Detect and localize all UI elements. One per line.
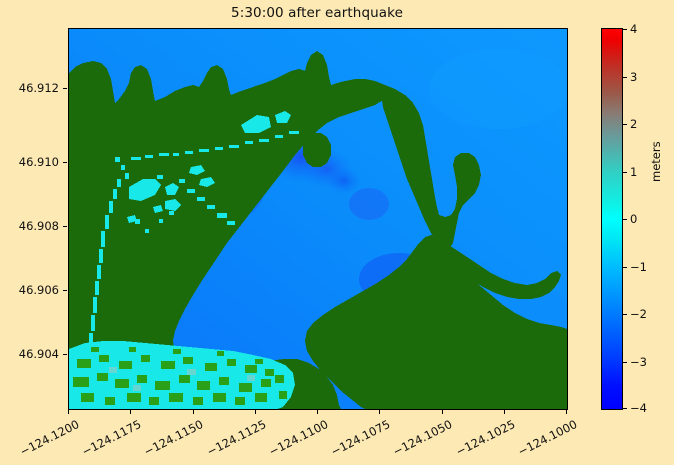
x-tick-4 [317, 410, 318, 414]
x-tick-7 [504, 410, 505, 414]
cbar-tick-m4 [622, 408, 627, 409]
map-axes[interactable] [68, 28, 568, 410]
y-tick-label-4: 46.912 [3, 81, 59, 95]
cbar-label-m2: −2 [630, 307, 647, 321]
page-title: 5:30:00 after earthquake [68, 5, 566, 21]
x-tick-5 [379, 410, 380, 414]
x-tick-3 [255, 410, 256, 414]
colorbar-axis-label: meters [649, 141, 663, 182]
y-tick-label-3: 46.910 [3, 155, 59, 169]
cbar-label-3: 3 [630, 70, 637, 84]
colorbar[interactable] [601, 28, 623, 410]
cbar-tick-1 [622, 172, 627, 173]
inundation-south-layer [69, 29, 567, 409]
y-tick-label-0: 46.904 [3, 347, 59, 361]
cbar-label-0: 0 [630, 212, 637, 226]
x-tick-8 [566, 410, 567, 414]
cbar-tick-m3 [622, 362, 627, 363]
map-canvas [69, 29, 567, 409]
cbar-tick-3 [622, 77, 627, 78]
cbar-tick-4 [622, 29, 627, 30]
cbar-label-m3: −3 [630, 355, 647, 369]
y-tick-label-1: 46.906 [3, 283, 59, 297]
cbar-label-2: 2 [630, 117, 637, 131]
cbar-tick-2 [622, 124, 627, 125]
y-tick-0 [63, 354, 67, 355]
cbar-tick-m1 [622, 267, 627, 268]
cbar-label-m1: −1 [630, 260, 647, 274]
x-tick-1 [130, 410, 131, 414]
cbar-label-4: 4 [630, 22, 637, 36]
y-tick-label-2: 46.908 [3, 219, 59, 233]
cbar-label-m4: −4 [630, 401, 647, 415]
matplotlib-figure: 5:30:00 after earthquake [0, 0, 674, 463]
y-tick-2 [63, 226, 67, 227]
y-tick-3 [63, 162, 67, 163]
cbar-label-1: 1 [630, 165, 637, 179]
x-tick-6 [442, 410, 443, 414]
cbar-tick-0 [622, 219, 627, 220]
x-tick-0 [68, 410, 69, 414]
y-tick-4 [63, 88, 67, 89]
x-tick-2 [193, 410, 194, 414]
cbar-tick-m2 [622, 314, 627, 315]
y-tick-1 [63, 290, 67, 291]
